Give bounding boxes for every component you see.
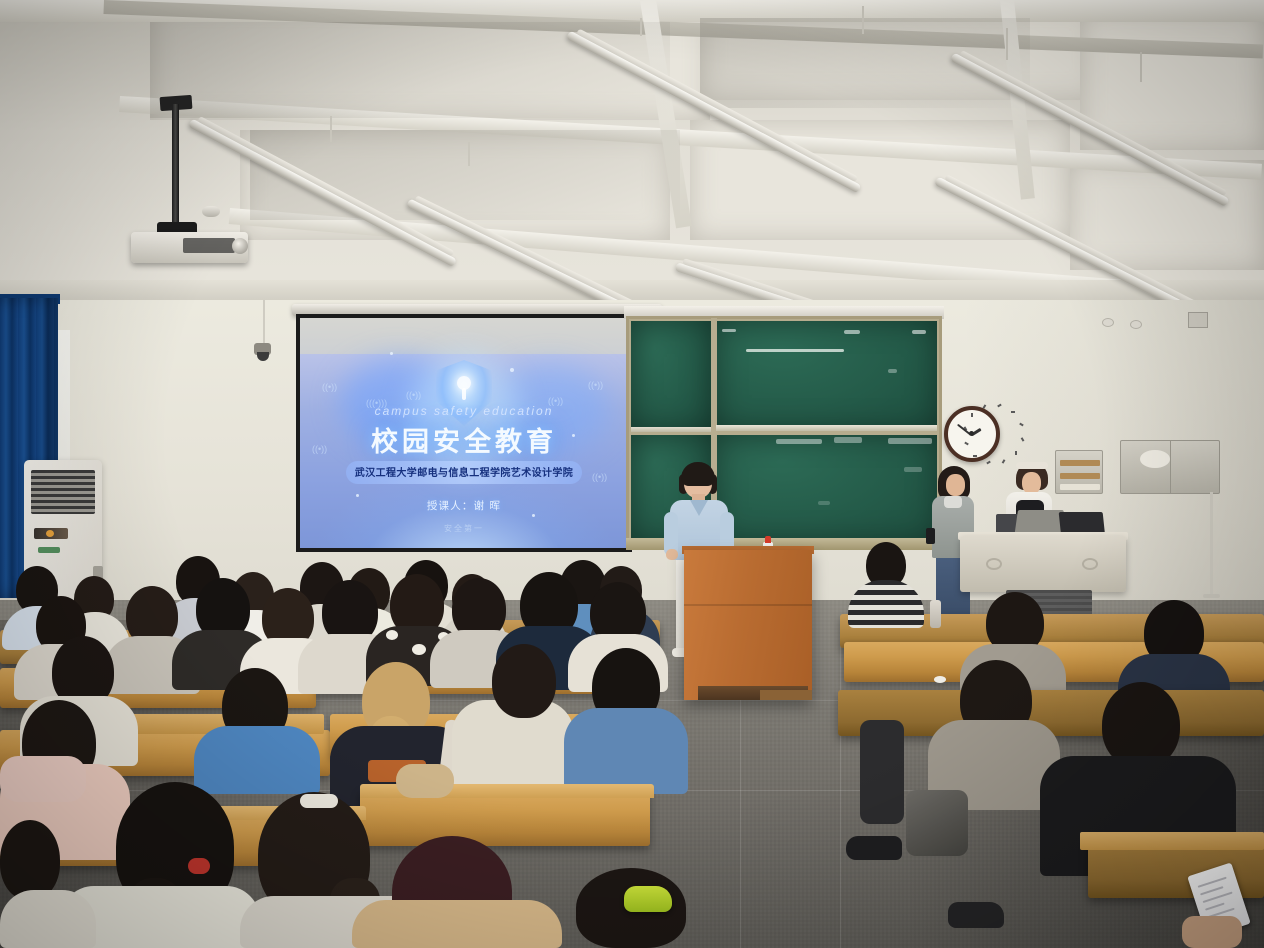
wall-conduit-elbow bbox=[1203, 594, 1220, 598]
shoe bbox=[846, 836, 902, 860]
ceiling bbox=[0, 0, 1264, 330]
slide-organization: 武汉工程大学邮电与信息工程学院艺术设计学院 bbox=[346, 464, 582, 479]
desk-ring-handle[interactable] bbox=[986, 558, 1002, 570]
projector-lens-icon bbox=[232, 238, 248, 254]
green-sneaker bbox=[624, 886, 672, 912]
screen-washed-area bbox=[300, 318, 628, 354]
ceiling-projector bbox=[131, 232, 248, 263]
student-body bbox=[194, 726, 320, 794]
slide-english-title: campus safety education bbox=[300, 404, 628, 418]
paper-cup-on-desk bbox=[934, 676, 946, 683]
ac-display-panel bbox=[34, 528, 68, 539]
student-shoulder bbox=[0, 756, 86, 802]
staff-person-left-face bbox=[946, 474, 965, 496]
lecture-hall-photo: ((•)) (((•))) ((•)) ((•)) ((•)) ((•)) ((… bbox=[0, 0, 1264, 948]
cabinet-paint-mark bbox=[1140, 450, 1170, 468]
wall-switch-plate[interactable] bbox=[1188, 312, 1208, 328]
ac-grill-icon bbox=[31, 470, 95, 514]
slide-speaker: 授课人：谢 晖 bbox=[300, 498, 628, 513]
student-head bbox=[492, 644, 556, 718]
slide-footer: 安全第一 bbox=[300, 523, 628, 534]
podium bbox=[684, 550, 812, 700]
student-body bbox=[0, 890, 96, 948]
bottle-on-desk bbox=[930, 600, 941, 628]
staff-scarf bbox=[944, 496, 962, 508]
wifi-icon: ((•)) bbox=[406, 390, 421, 400]
student-body bbox=[352, 900, 562, 948]
chalk-tray bbox=[716, 425, 937, 431]
podium-seam bbox=[684, 604, 812, 606]
staff-person-right-face bbox=[1022, 472, 1041, 494]
hand bbox=[1182, 916, 1242, 948]
blackboard bbox=[716, 321, 937, 431]
student-shoulder bbox=[396, 764, 454, 798]
control-desk bbox=[960, 536, 1126, 592]
bench-row bbox=[360, 790, 650, 846]
wifi-icon: ((•)) bbox=[322, 382, 337, 392]
electrical-cabinet bbox=[1120, 440, 1220, 494]
presenter-hair bbox=[681, 462, 715, 486]
bottle-cap bbox=[765, 536, 771, 543]
wall-clock bbox=[944, 406, 1000, 462]
blackboard-panel bbox=[631, 321, 711, 431]
shoe bbox=[948, 902, 1004, 928]
hair-band bbox=[300, 794, 338, 808]
student-body bbox=[564, 708, 688, 794]
wifi-icon: ((•)) bbox=[592, 472, 607, 482]
wall-mounted-box bbox=[1055, 450, 1103, 494]
wifi-icon: ((•)) bbox=[588, 380, 603, 390]
pattern-dot bbox=[386, 630, 398, 640]
desk-surface bbox=[1080, 832, 1264, 850]
chalk-tray bbox=[631, 427, 711, 432]
student-leg bbox=[860, 720, 904, 824]
hair-tie bbox=[188, 858, 210, 874]
wall-knob bbox=[1102, 318, 1114, 327]
projector-mount-pole bbox=[172, 104, 179, 226]
wall-knob bbox=[1130, 320, 1142, 329]
keyhole-stem-icon bbox=[462, 388, 466, 400]
clock-center-pin bbox=[969, 431, 974, 436]
presenter-hand bbox=[666, 549, 678, 560]
blackboard bbox=[716, 435, 937, 543]
pattern-dot bbox=[412, 644, 426, 655]
slide-title: 校园安全教育 bbox=[300, 420, 628, 459]
student-head bbox=[0, 820, 60, 900]
smoke-detector-icon bbox=[202, 206, 220, 217]
projection-screen: ((•)) (((•))) ((•)) ((•)) ((•)) ((•)) ((… bbox=[300, 318, 628, 548]
backpack-on-floor bbox=[906, 790, 968, 856]
podium-base-shadow bbox=[760, 690, 812, 700]
phone-in-hand bbox=[926, 528, 935, 544]
desk-ring-handle[interactable] bbox=[1082, 558, 1098, 570]
wall-conduit bbox=[1210, 492, 1213, 597]
staff-headband bbox=[1016, 462, 1048, 469]
camera-mount-wire bbox=[263, 300, 265, 345]
ac-logo bbox=[38, 547, 60, 553]
